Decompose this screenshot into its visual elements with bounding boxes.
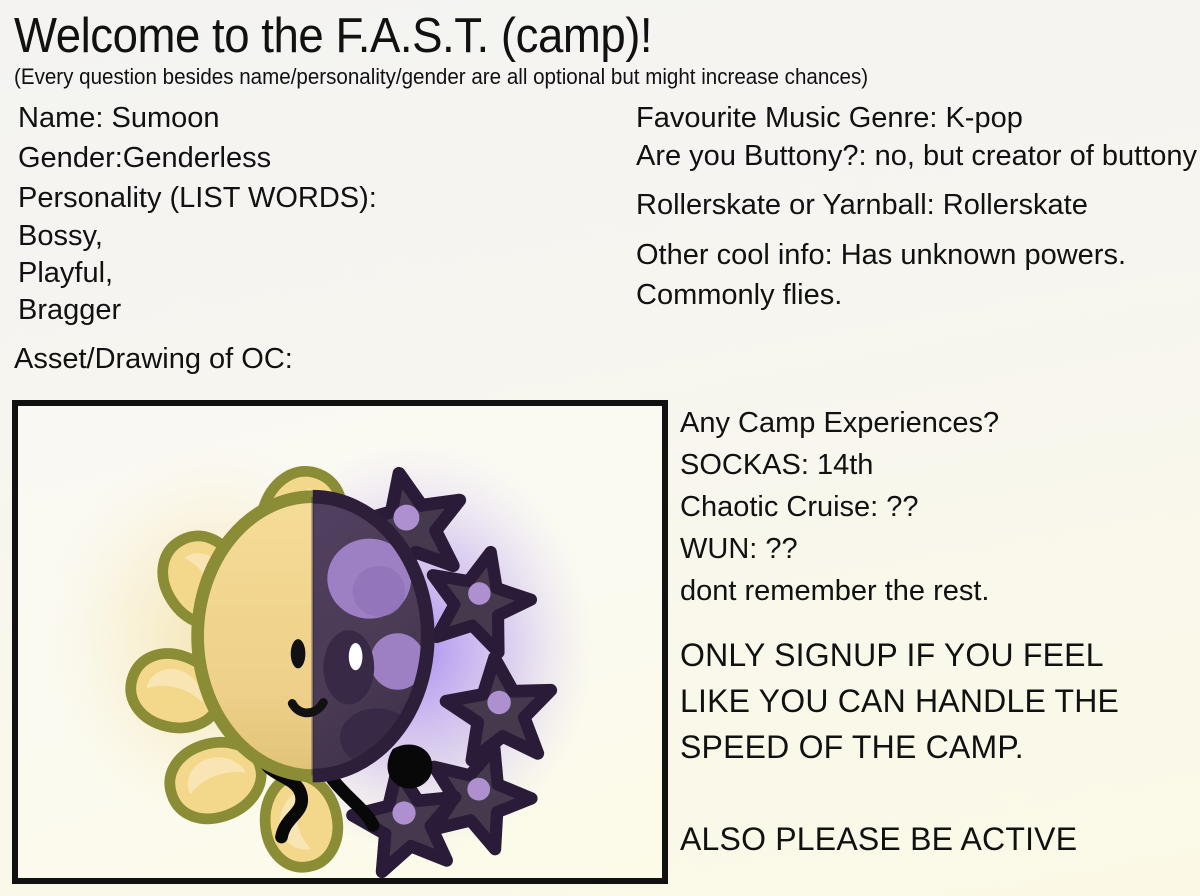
personality-word-1: Playful, <box>18 255 634 292</box>
field-music-genre: Favourite Music Genre: K-pop <box>636 98 1200 138</box>
field-buttony: Are you Buttony?: no, but creator of but… <box>636 138 1200 175</box>
field-asset-label: Asset/Drawing of OC: <box>14 339 634 379</box>
eye-left <box>291 639 306 668</box>
moon-crater-large-inner <box>353 566 406 617</box>
moon-shadow-1 <box>323 630 374 704</box>
hand-right <box>387 745 432 789</box>
field-other-cool-info: Other cool info: Has unknown powers. Com… <box>636 235 1200 315</box>
camp-entry-wun: WUN: ?? <box>680 528 1200 570</box>
personality-word-0: Bossy, <box>18 218 634 255</box>
page-title: Welcome to the F.A.S.T. (camp)! <box>14 8 1117 64</box>
oc-drawing-box <box>12 400 668 884</box>
left-column: Name: Sumoon Gender:Genderless Personali… <box>14 98 634 379</box>
announcement-line-2: LIKE YOU CAN HANDLE THE <box>680 678 1200 724</box>
announcements-block: ONLY SIGNUP IF YOU FEEL LIKE YOU CAN HAN… <box>680 632 1200 862</box>
right-column: Favourite Music Genre: K-pop Are you But… <box>636 98 1200 315</box>
camp-entry-sockas: SOCKAS: 14th <box>680 444 1200 486</box>
field-rollerskate-or-yarnball: Rollerskate or Yarnball: Rollerskate <box>636 185 1200 225</box>
eye-right <box>349 643 363 670</box>
oc-character-illustration <box>18 406 662 878</box>
field-gender: Gender:Genderless <box>18 138 634 178</box>
announcement-line-3: SPEED OF THE CAMP. <box>680 724 1200 770</box>
camp-experiences-block: Any Camp Experiences? SOCKAS: 14th Chaot… <box>680 402 1200 612</box>
camp-entry-rest: dont remember the rest. <box>680 570 1200 612</box>
personality-word-2: Bragger <box>18 292 634 329</box>
announcement-line-4: ALSO PLEASE BE ACTIVE <box>680 816 1200 862</box>
camp-experiences-heading: Any Camp Experiences? <box>680 402 1200 444</box>
camp-entry-chaotic-cruise: Chaotic Cruise: ?? <box>680 486 1200 528</box>
page-header: Welcome to the F.A.S.T. (camp)! (Every q… <box>0 0 1200 90</box>
page-subtitle: (Every question besides name/personality… <box>14 64 1123 90</box>
field-name: Name: Sumoon <box>18 98 634 138</box>
field-personality-label: Personality (LIST WORDS): <box>18 178 634 218</box>
announcement-line-1: ONLY SIGNUP IF YOU FEEL <box>680 632 1200 678</box>
